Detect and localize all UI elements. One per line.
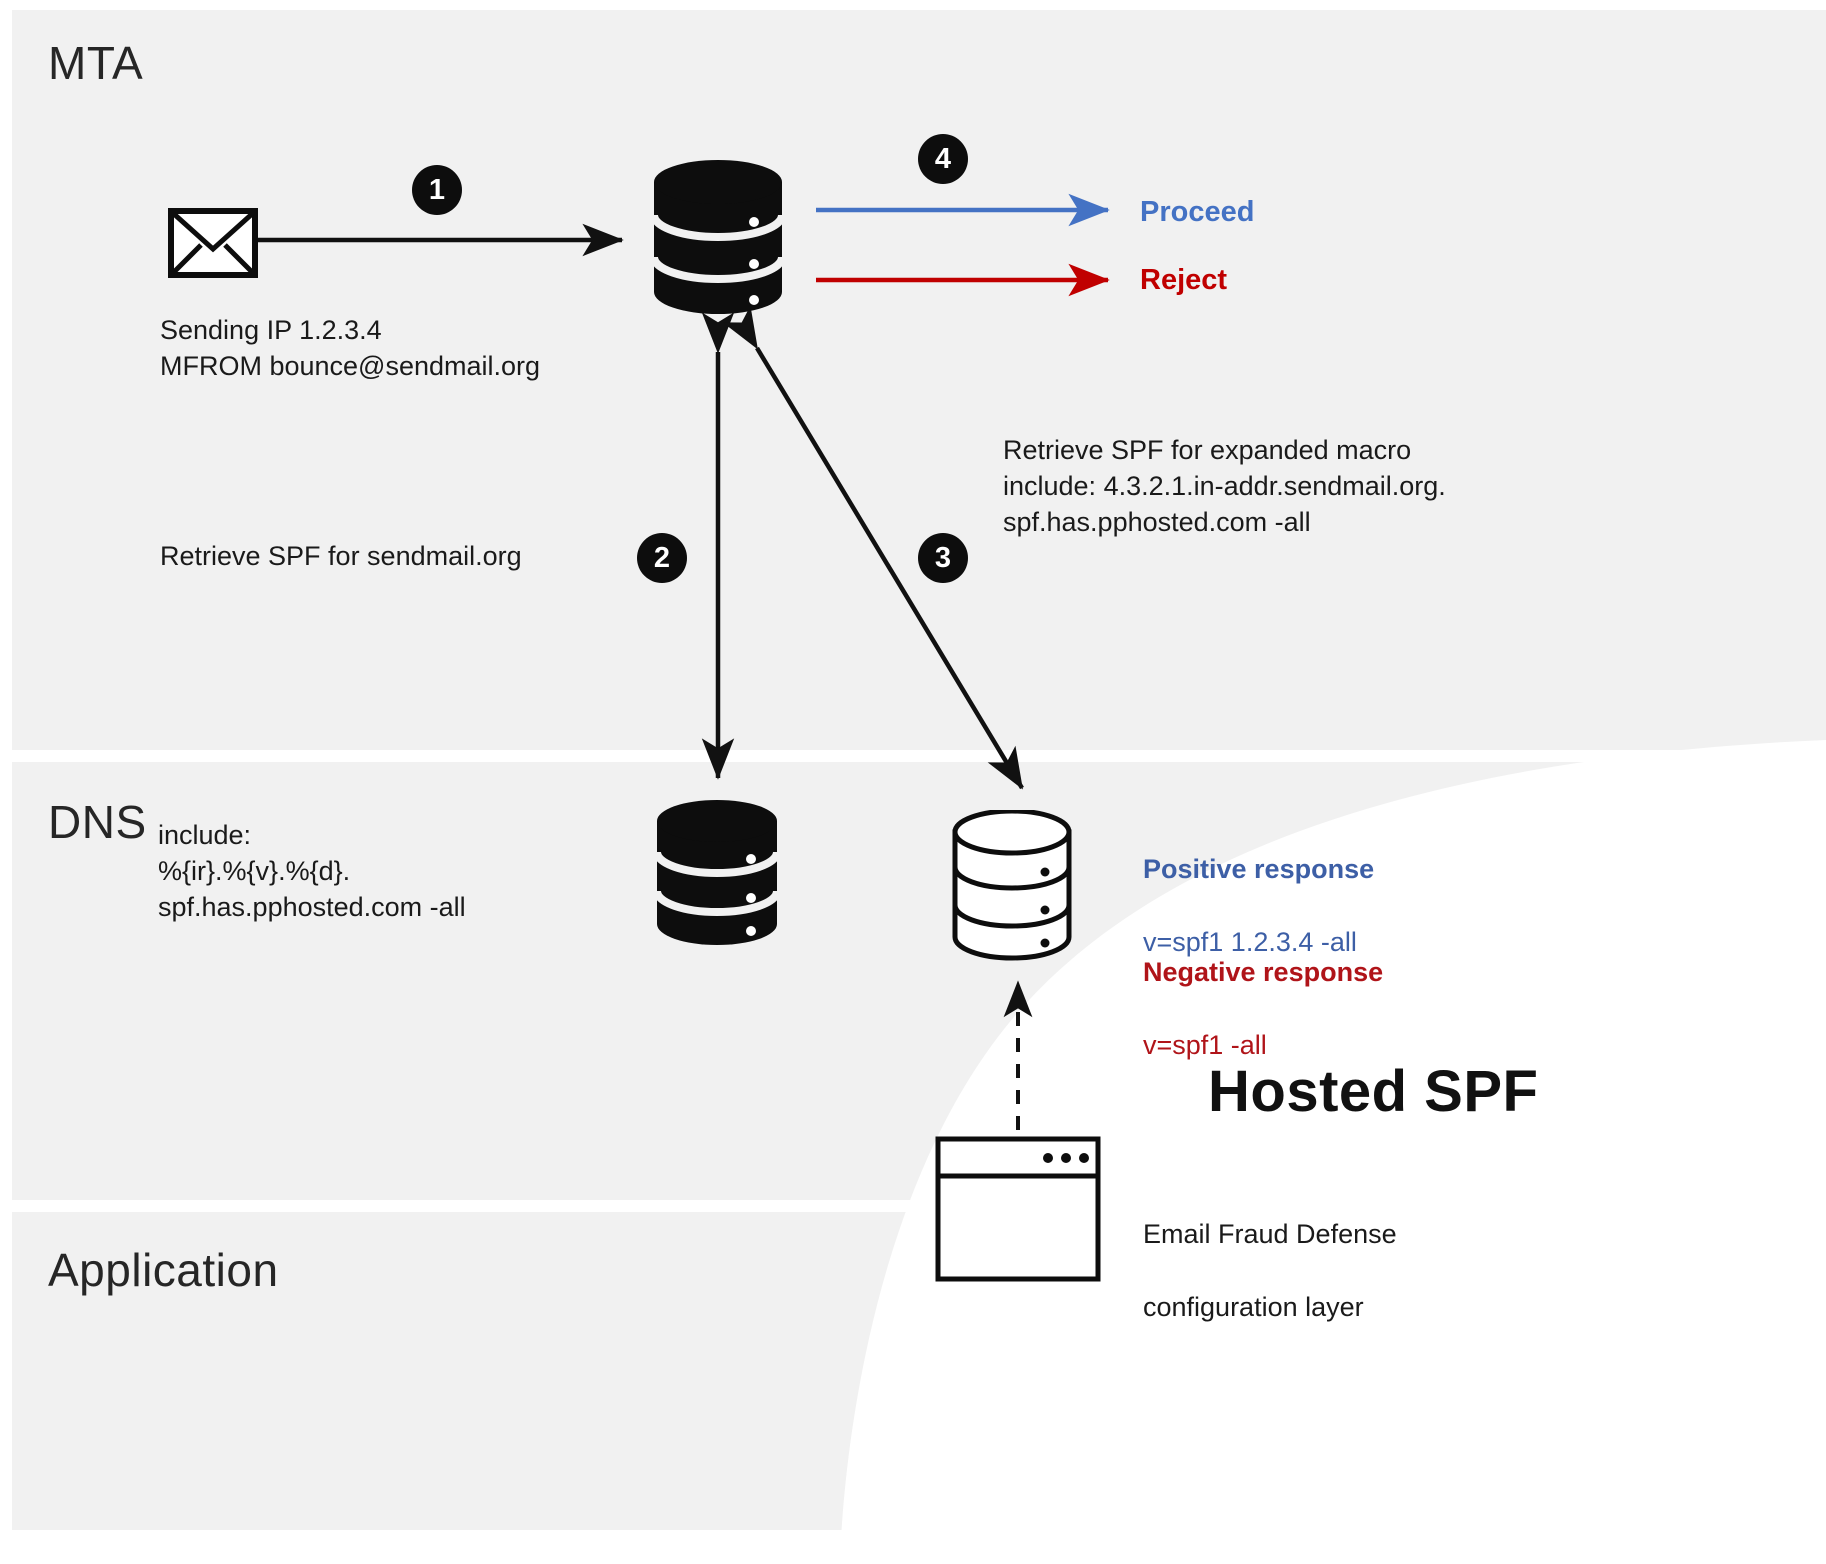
step-badge-4: 4 xyxy=(918,134,968,184)
hosted-spf-title: Hosted SPF xyxy=(1208,1058,1539,1125)
browser-window-icon xyxy=(935,1136,1101,1287)
band-label-application: Application xyxy=(48,1243,279,1297)
band-label-dns: DNS xyxy=(48,795,147,849)
proceed-label: Proceed xyxy=(1140,196,1254,229)
negative-response-block: Negative response v=spf1 -all xyxy=(1143,917,1383,1064)
band-app xyxy=(12,1212,1826,1530)
negative-response-value: v=spf1 -all xyxy=(1143,1030,1267,1060)
positive-response-heading: Positive response xyxy=(1143,851,1374,888)
envelope-icon xyxy=(168,208,258,283)
bottom-caption-strip xyxy=(0,1534,1826,1564)
negative-response-heading: Negative response xyxy=(1143,954,1383,991)
sending-info-text: Sending IP 1.2.3.4 MFROM bounce@sendmail… xyxy=(160,312,540,384)
efd-subtext: configuration layer xyxy=(1143,1292,1364,1322)
expanded-macro-text: Retrieve SPF for expanded macro include:… xyxy=(1003,432,1446,541)
database-outline-icon-hosted-spf xyxy=(952,810,1072,967)
email-fraud-defense-caption: Email Fraud Defense configuration layer xyxy=(1143,1180,1397,1325)
retrieve-spf-text: Retrieve SPF for sendmail.org xyxy=(160,538,522,574)
step-badge-3: 3 xyxy=(918,533,968,583)
band-label-mta: MTA xyxy=(48,36,143,90)
step-badge-2: 2 xyxy=(637,533,687,583)
diagram-canvas: MTA DNS Application xyxy=(0,0,1826,1564)
database-icon-dns xyxy=(655,800,779,955)
efd-heading: Email Fraud Defense xyxy=(1143,1216,1397,1252)
reject-label: Reject xyxy=(1140,264,1227,297)
step-badge-1: 1 xyxy=(412,165,462,215)
database-icon-mta xyxy=(652,160,784,325)
dns-include-record-text: include: %{ir}.%{v}.%{d}. spf.has.pphost… xyxy=(158,817,466,926)
